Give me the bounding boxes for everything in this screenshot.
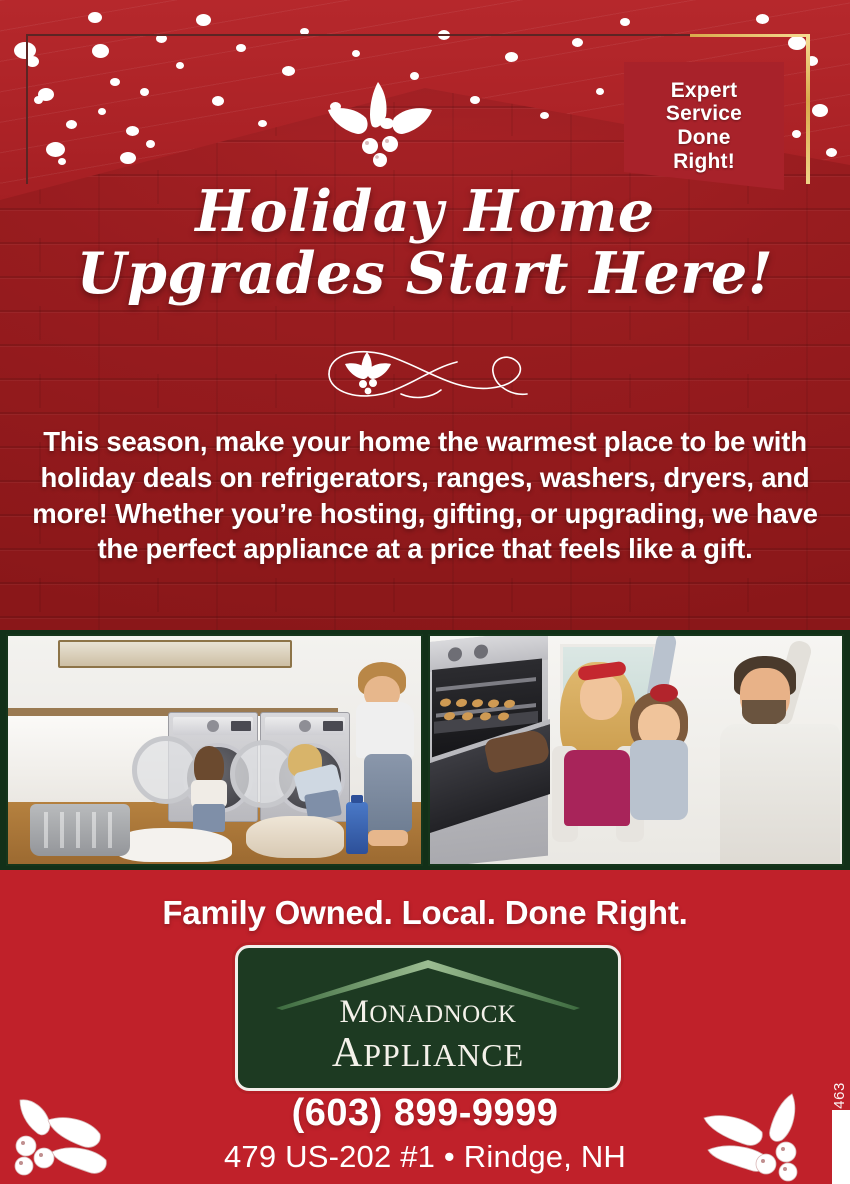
tagline: Family Owned. Local. Done Right. <box>0 894 850 932</box>
expert-service-badge: Expert Service Done Right! <box>624 62 784 190</box>
gold-accent-line-vertical <box>806 34 810 184</box>
adult-figure <box>716 646 844 866</box>
hero-section: Expert Service Done Right! <box>0 0 850 632</box>
badge-line-1: Expert <box>666 79 742 103</box>
body-copy: This season, make your home the warmest … <box>14 424 836 567</box>
holly-sprig-icon-top <box>320 80 440 170</box>
badge-line-4: Right! <box>666 150 742 174</box>
badge-line-3: Done <box>666 126 742 150</box>
photo-band <box>0 630 850 870</box>
corner-notch <box>832 1110 850 1184</box>
decorative-flourish-icon <box>305 338 545 410</box>
expert-service-badge-text: Expert Service Done Right! <box>666 79 742 173</box>
photo-kitchen-family <box>428 634 845 866</box>
child-figure <box>186 746 232 832</box>
frame-line-left <box>26 34 28 184</box>
laundry-basket <box>30 804 130 856</box>
gold-accent-line-top <box>690 34 810 37</box>
badge-line-2: Service <box>666 102 742 126</box>
company-logo: MONADNOCK APPLIANCE <box>235 945 621 1091</box>
detergent-bottle <box>346 802 368 854</box>
logo-word-appliance: APPLIANCE <box>238 1032 618 1074</box>
frame-line-top <box>26 34 726 36</box>
child-figure <box>616 636 702 836</box>
holly-sprig-icon-bottom-left <box>8 1086 136 1182</box>
holiday-appliance-advertisement: Expert Service Done Right! <box>0 0 850 1184</box>
holly-sprig-icon-bottom-right <box>688 1086 816 1182</box>
photo-laundry-room <box>6 634 423 866</box>
logo-word-monadnock: MONADNOCK <box>238 996 618 1029</box>
